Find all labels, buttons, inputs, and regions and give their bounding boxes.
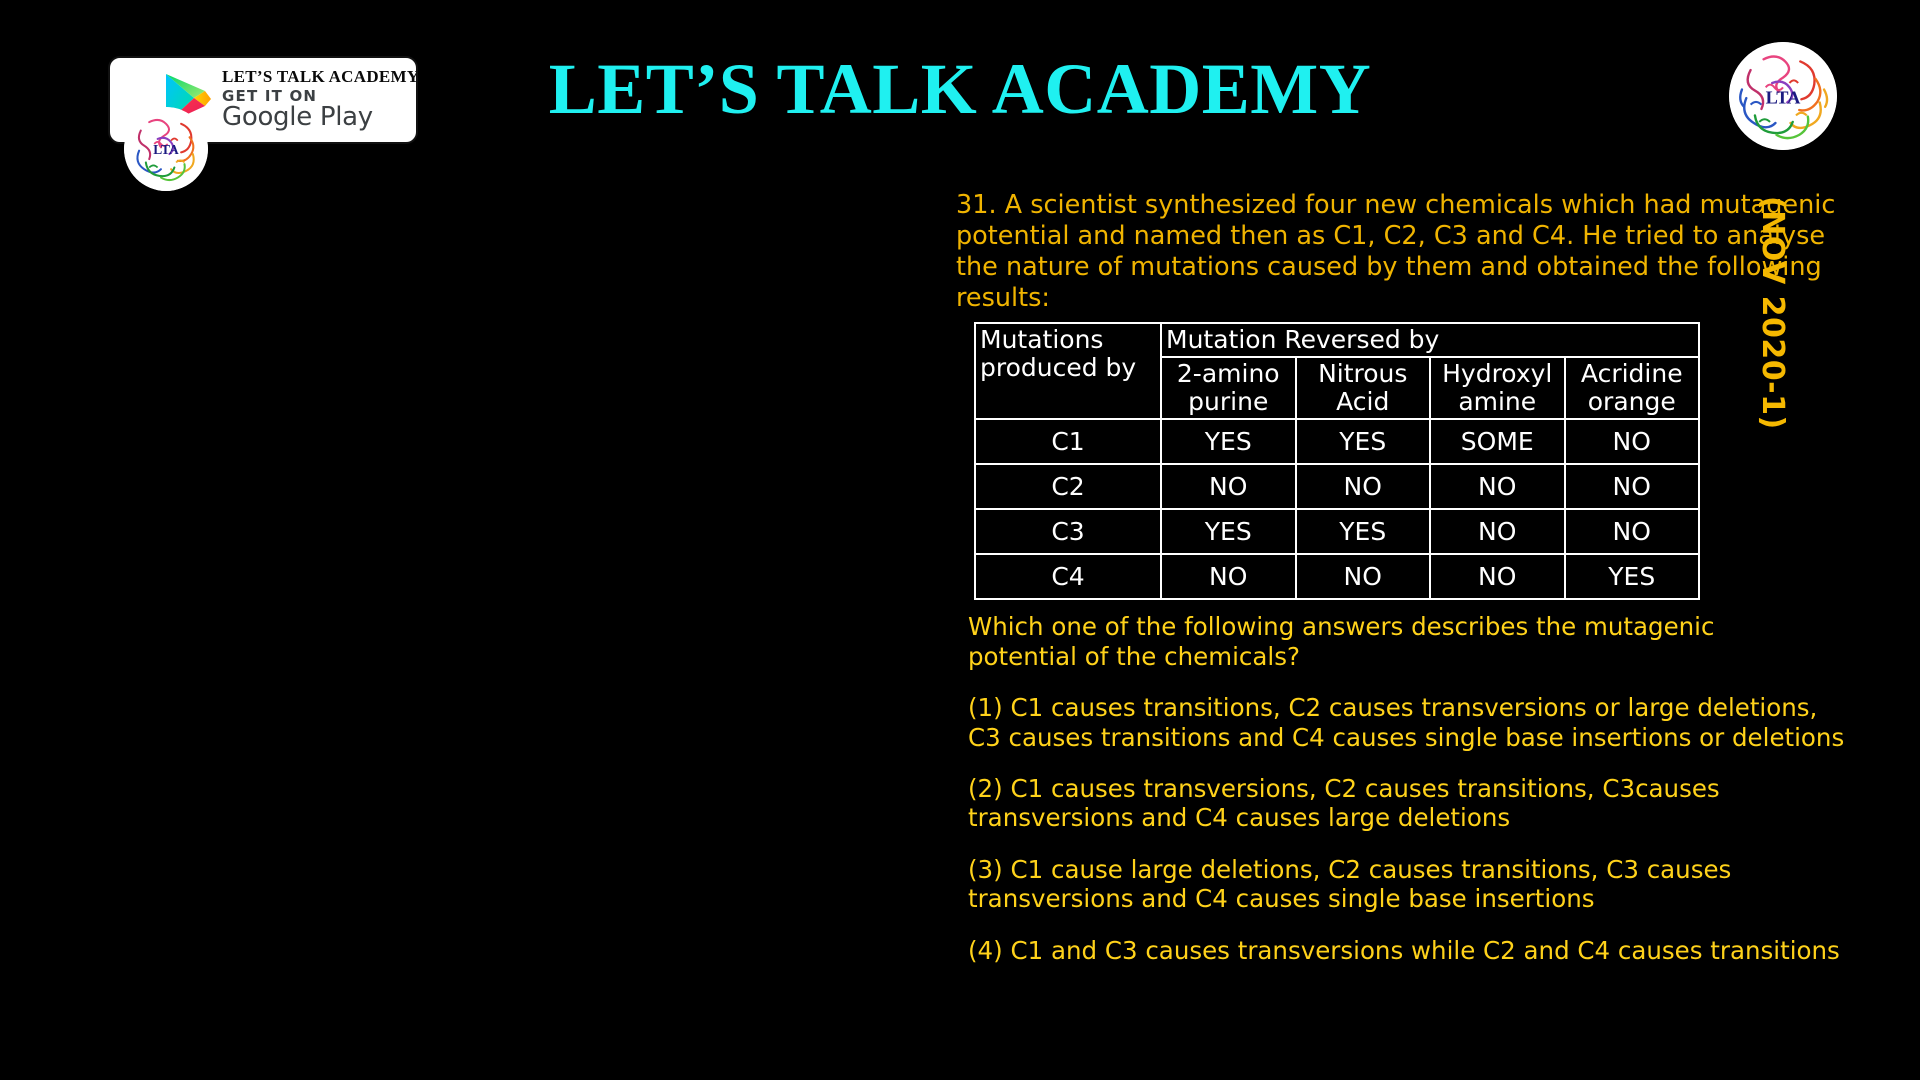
brand-cluster: LET’S TALK ACADEMY GET IT ON Google Play	[62, 56, 422, 146]
cell-c4-nitrous-acid: NO	[1296, 554, 1431, 599]
row-label-c3: C3	[975, 509, 1161, 554]
answer-option-1[interactable]: (1) C1 causes transitions, C2 causes tra…	[968, 693, 1848, 752]
mutation-results-table: Mutations produced by Mutation Reversed …	[974, 322, 1700, 600]
cell-c3-hydroxyl-amine: NO	[1430, 509, 1565, 554]
answer-option-2[interactable]: (2) C1 causes transversions, C2 causes t…	[968, 774, 1848, 833]
answer-option-4[interactable]: (4) C1 and C3 causes transversions while…	[968, 936, 1848, 965]
reagent-header-hydroxyl-amine: Hydroxyl amine	[1430, 357, 1565, 419]
cell-c3-acridine-orange: NO	[1565, 509, 1700, 554]
cell-c3-nitrous-acid: YES	[1296, 509, 1431, 554]
cell-c2-2-amino-purine: NO	[1161, 464, 1296, 509]
reagent-header-acridine-orange: Acridine orange	[1565, 357, 1700, 419]
row-label-c2: C2	[975, 464, 1161, 509]
badge-academy-label: LET’S TALK ACADEMY	[222, 68, 418, 86]
cell-c4-acridine-orange: YES	[1565, 554, 1700, 599]
cell-c1-acridine-orange: NO	[1565, 419, 1700, 464]
table-corner-header: Mutations produced by	[975, 323, 1161, 419]
svg-text:LTA: LTA	[153, 142, 179, 157]
svg-text:LTA: LTA	[1766, 88, 1801, 108]
question-stem: 31. A scientist synthesized four new che…	[956, 190, 1836, 314]
badge-text-block: LET’S TALK ACADEMY GET IT ON Google Play	[222, 68, 418, 131]
cell-c4-hydroxyl-amine: NO	[1430, 554, 1565, 599]
cell-c2-nitrous-acid: NO	[1296, 464, 1431, 509]
cell-c1-nitrous-acid: YES	[1296, 419, 1431, 464]
table-row: C2 NO NO NO NO	[975, 464, 1699, 509]
badge-store-name-label: Google Play	[222, 104, 418, 131]
table-group-header: Mutation Reversed by	[1161, 323, 1699, 357]
row-label-c4: C4	[975, 554, 1161, 599]
cell-c2-acridine-orange: NO	[1565, 464, 1700, 509]
cell-c4-2-amino-purine: NO	[1161, 554, 1296, 599]
cell-c1-hydroxyl-amine: SOME	[1430, 419, 1565, 464]
lta-circular-logo-icon: LTA	[1729, 42, 1837, 150]
table-row: C4 NO NO NO YES	[975, 554, 1699, 599]
question-content: 31. A scientist synthesized four new che…	[956, 190, 1836, 965]
cell-c3-2-amino-purine: YES	[1161, 509, 1296, 554]
table-row: C1 YES YES SOME NO	[975, 419, 1699, 464]
header-bar: LET’S TALK ACADEMY	[0, 0, 1920, 175]
row-label-c1: C1	[975, 419, 1161, 464]
cell-c2-hydroxyl-amine: NO	[1430, 464, 1565, 509]
reagent-header-2-amino-purine: 2-amino purine	[1161, 357, 1296, 419]
reagent-header-nitrous-acid: Nitrous Acid	[1296, 357, 1431, 419]
cell-c1-2-amino-purine: YES	[1161, 419, 1296, 464]
table-row: C3 YES YES NO NO	[975, 509, 1699, 554]
lta-circular-logo-icon: LTA	[124, 107, 208, 191]
question-tail: Which one of the following answers descr…	[968, 612, 1828, 671]
answer-option-3[interactable]: (3) C1 cause large deletions, C2 causes …	[968, 855, 1848, 914]
table-header-row: Mutations produced by Mutation Reversed …	[975, 323, 1699, 357]
